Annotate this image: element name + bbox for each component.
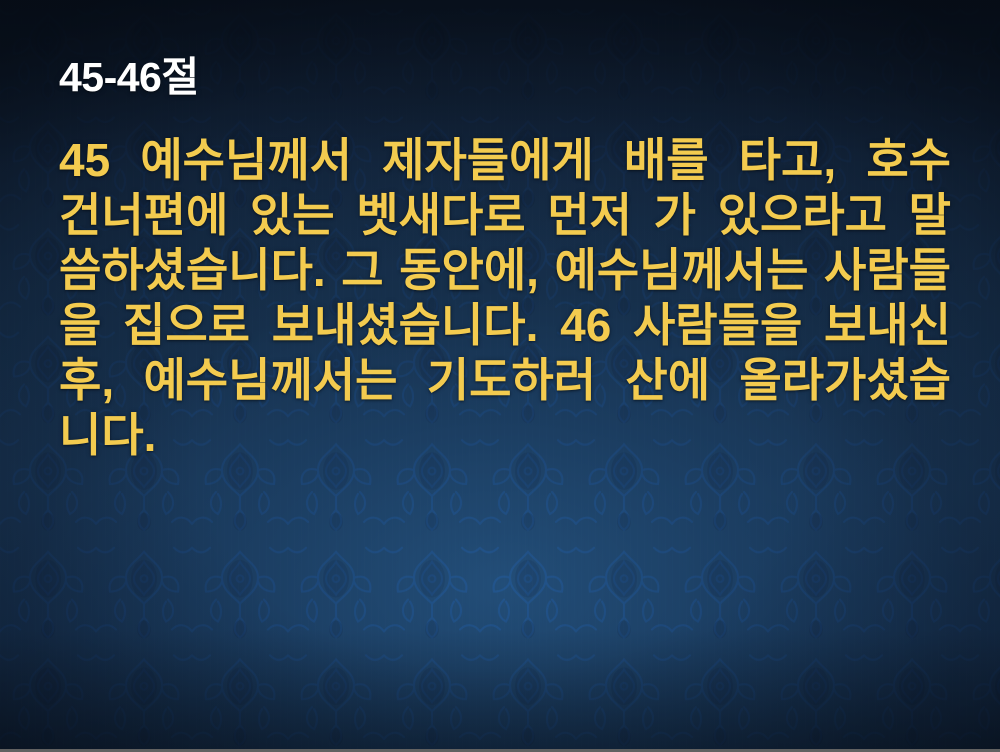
body-word: 있는 xyxy=(250,188,335,243)
body-word: 말 xyxy=(909,188,951,243)
body-word: 있으라고 xyxy=(718,188,887,243)
body-line-6: 니다. xyxy=(59,408,951,463)
body-word: 예수님께서는 xyxy=(555,243,809,298)
body-word: 올라가셨습 xyxy=(739,353,951,408)
slide-content: 45-46절 45 예수님께서 제자들에게 배를 타고, 호수 건너편에 있는 … xyxy=(0,0,1000,749)
body-word: 벳새다로 xyxy=(356,188,525,243)
body-word: 제자들에게 xyxy=(382,133,594,188)
body-word: 배를 xyxy=(624,133,709,188)
body-word: 니다. xyxy=(59,408,156,463)
slide-body-text: 45 예수님께서 제자들에게 배를 타고, 호수 건너편에 있는 벳새다로 먼저… xyxy=(59,133,951,463)
body-word: 먼저 xyxy=(547,188,632,243)
body-word: 후, xyxy=(59,353,114,408)
body-word: 그 xyxy=(341,243,383,298)
presentation-slide: 45-46절 45 예수님께서 제자들에게 배를 타고, 호수 건너편에 있는 … xyxy=(0,0,1000,749)
body-word: 을 xyxy=(59,298,101,353)
body-word: 가 xyxy=(654,188,696,243)
body-word: 45 xyxy=(59,133,110,188)
body-line-5: 후, 예수님께서는 기도하러 산에 올라가셨습 xyxy=(59,353,951,408)
body-word: 46 xyxy=(560,298,611,353)
body-line-4: 을 집으로 보내셨습니다. 46 사람들을 보내신 xyxy=(59,298,951,353)
body-line-2: 건너편에 있는 벳새다로 먼저 가 있으라고 말 xyxy=(59,188,951,243)
body-word: 건너편에 xyxy=(59,188,228,243)
body-line-1: 45 예수님께서 제자들에게 배를 타고, 호수 xyxy=(59,133,951,188)
body-word: 예수님께서는 xyxy=(143,353,397,408)
body-word: 사람들을 xyxy=(633,298,802,353)
body-word: 호수 xyxy=(866,133,951,188)
body-word: 사람들 xyxy=(824,243,951,298)
body-word: 기도하러 xyxy=(427,353,596,408)
slide-title: 45-46절 xyxy=(59,55,939,101)
body-word: 동안에, xyxy=(399,243,539,298)
body-word: 예수님께서 xyxy=(140,133,352,188)
body-line-3: 씀하셨습니다. 그 동안에, 예수님께서는 사람들 xyxy=(59,243,951,298)
body-word: 씀하셨습니다. xyxy=(59,243,326,298)
body-word: 산에 xyxy=(625,353,710,408)
body-word: 보내셨습니다. xyxy=(272,298,539,353)
body-word: 타고, xyxy=(739,133,836,188)
body-word: 보내신 xyxy=(824,298,951,353)
body-word: 집으로 xyxy=(123,298,250,353)
